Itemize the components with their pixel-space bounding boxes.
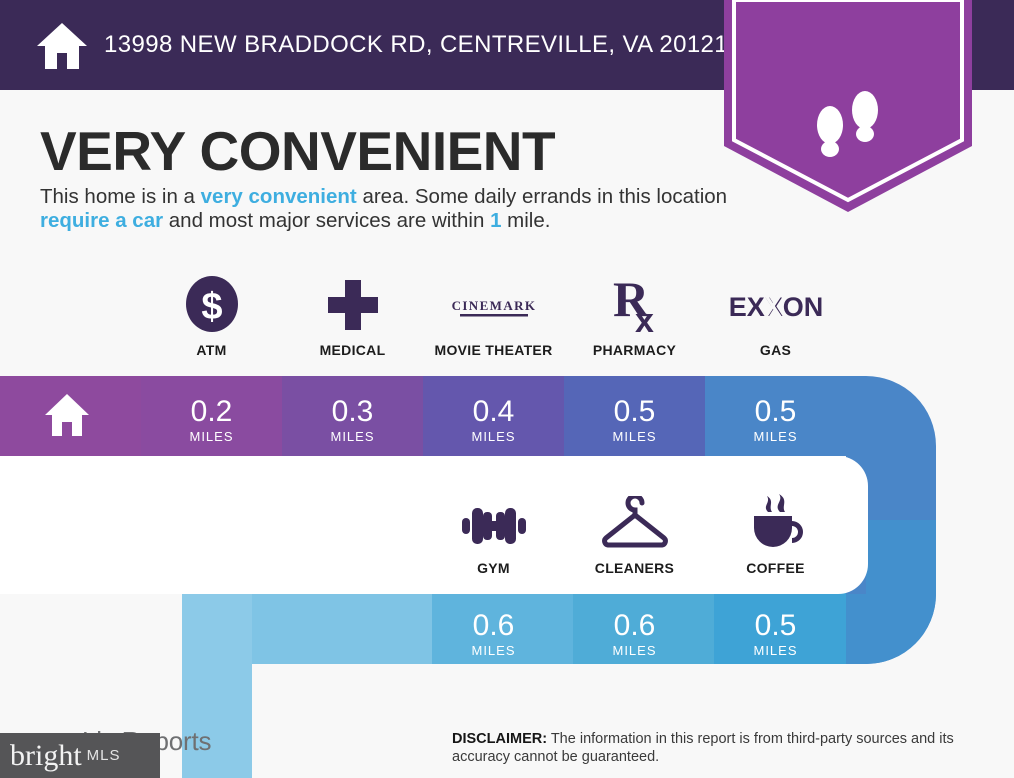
distance-value: 0.5	[705, 396, 846, 428]
category-label: CLEANERS	[564, 560, 705, 576]
house-icon	[36, 20, 88, 72]
coffee-cup-icon	[740, 494, 812, 552]
disclaimer: DISCLAIMER: The information in this repo…	[452, 730, 982, 766]
distance-value: 0.4	[423, 396, 564, 428]
dumbbell-icon	[456, 500, 532, 552]
distance-gym: 0.6 MILES	[423, 610, 564, 658]
property-address: 13998 NEW BRADDOCK RD, CENTREVILLE, VA 2…	[104, 31, 728, 59]
distance-coffee: 0.5 MILES	[705, 610, 846, 658]
mls-suffix: MLS	[87, 747, 121, 764]
bright-mls-logo[interactable]: bright MLS	[0, 733, 160, 778]
category-cleaners[interactable]: CLEANERS	[564, 490, 705, 576]
category-label: GYM	[423, 560, 564, 576]
category-gym[interactable]: GYM	[423, 490, 564, 576]
distance-gas: 0.5 MILES	[705, 396, 846, 444]
distance-pharmacy: 0.5 MILES	[564, 396, 705, 444]
distance-value: 0.5	[564, 396, 705, 428]
distance-value: 0.6	[423, 610, 564, 642]
distance-unit: MILES	[423, 643, 564, 658]
distance-medical: 0.3 MILES	[282, 396, 423, 444]
distance-value: 0.5	[705, 610, 846, 642]
distance-unit: MILES	[141, 429, 282, 444]
distance-unit: MILES	[705, 429, 846, 444]
distance-value: 0.6	[564, 610, 705, 642]
distance-unit: MILES	[282, 429, 423, 444]
category-coffee[interactable]: COFFEE	[705, 490, 846, 576]
origin-house-icon	[44, 392, 90, 438]
area-report-badge	[724, 0, 972, 212]
distance-unit: MILES	[564, 643, 705, 658]
distance-movie-theater: 0.4 MILES	[423, 396, 564, 444]
distance-value: 0.2	[141, 396, 282, 428]
distance-atm: 0.2 MILES	[141, 396, 282, 444]
category-label: COFFEE	[705, 560, 846, 576]
distance-value: 0.3	[282, 396, 423, 428]
hanger-icon	[594, 496, 676, 552]
distance-unit: MILES	[423, 429, 564, 444]
distance-unit: MILES	[705, 643, 846, 658]
distance-unit: MILES	[564, 429, 705, 444]
distance-cleaners: 0.6 MILES	[564, 610, 705, 658]
bright-wordmark: bright	[10, 741, 82, 771]
disclaimer-label: DISCLAIMER:	[452, 731, 547, 747]
area-report-page: 13998 NEW BRADDOCK RD, CENTREVILLE, VA 2…	[0, 0, 1014, 778]
